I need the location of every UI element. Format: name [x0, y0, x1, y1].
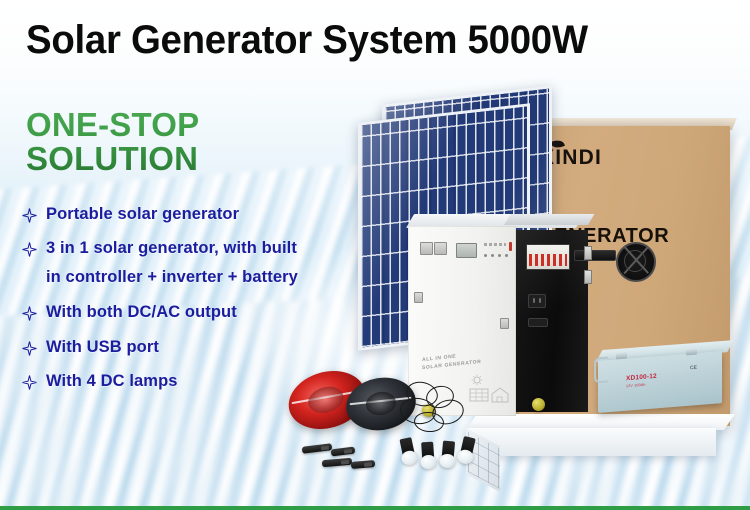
generator-power-led — [509, 242, 512, 251]
page-title: Solar Generator System 5000W — [26, 18, 704, 63]
generator-label-strip — [484, 243, 506, 246]
outlet-pin-left — [533, 298, 535, 303]
generator-hinge-bottom — [584, 270, 592, 284]
feature-item-5: With 4 DC lamps — [22, 372, 372, 391]
dc-lamp-3 — [439, 440, 457, 467]
generator-fan-grille — [616, 242, 656, 282]
dc-lamp-2 — [419, 441, 437, 468]
generator-led-4 — [505, 254, 508, 257]
generator-side-panel — [516, 230, 588, 412]
feature-list: Portable solar generator 3 in 1 solar ge… — [22, 205, 372, 407]
generator-switch-2 — [434, 242, 447, 255]
subtitle-heading: ONE-STOP SOLUTION — [26, 108, 199, 176]
dc-lamp-4 — [456, 436, 477, 465]
feature-item-2-continuation-label: in controller + inverter + battery — [46, 268, 298, 287]
feature-item-4-label: With USB port — [46, 338, 159, 357]
feature-item-2-continuation: in controller + inverter + battery — [46, 268, 372, 287]
outlet-pin-right — [539, 298, 541, 303]
battery-model-label: XD100-12 12V 100Ah — [626, 373, 657, 389]
diamond-star-bullet-icon — [22, 341, 37, 356]
feature-item-5-label: With 4 DC lamps — [46, 372, 178, 391]
battery-handle — [594, 356, 608, 383]
generator-switch-1 — [420, 242, 433, 255]
generator-top-surface-rear — [504, 214, 594, 225]
generator-led-1 — [484, 254, 487, 257]
generator-meter-bars — [529, 254, 567, 266]
generator-port-cover — [500, 318, 509, 329]
feature-item-1-label: Portable solar generator — [46, 205, 239, 224]
feature-item-4: With USB port — [22, 338, 372, 357]
feature-item-3-label: With both DC/AC output — [46, 303, 237, 322]
pallet-front-face — [466, 428, 716, 456]
generator-voltage-meter — [526, 244, 570, 270]
generator-side-switch — [414, 292, 423, 303]
subtitle-line-1: ONE-STOP — [26, 106, 199, 143]
generator-wheel-right — [532, 398, 545, 411]
generator-display — [456, 243, 477, 258]
dc-lamp-1 — [397, 437, 418, 466]
generator-ac-outlet — [528, 294, 546, 308]
product-poster: XINDI GENERATOR ALL IN ONE SOLAR — [0, 0, 750, 510]
battery-ce-mark: CE — [690, 365, 697, 372]
diamond-star-bullet-icon — [22, 208, 37, 223]
bottom-accent-bar — [0, 506, 750, 510]
dc-lamp-3-bulb — [439, 453, 456, 468]
generator-hinge-top — [584, 246, 592, 260]
battery-body — [598, 351, 722, 413]
storage-battery: XD100-12 12V 100Ah CE — [590, 348, 726, 410]
generator-usb-port — [528, 318, 548, 327]
generator-fan-inner-ring — [624, 250, 646, 272]
dc-lamp-2-bulb — [420, 454, 437, 469]
feature-item-2-label: 3 in 1 solar generator, with built — [46, 239, 297, 258]
feature-item-2: 3 in 1 solar generator, with built — [22, 239, 372, 258]
dc-lamp-bundle — [392, 382, 502, 478]
battery-terminal-negative — [616, 352, 627, 360]
diamond-star-bullet-icon — [22, 375, 37, 390]
generator-vent-slot — [574, 250, 616, 261]
subtitle-line-2: SOLUTION — [26, 142, 199, 176]
feature-item-1: Portable solar generator — [22, 205, 372, 224]
generator-led-3 — [498, 254, 501, 257]
generator-led-2 — [491, 254, 494, 257]
diamond-star-bullet-icon — [22, 306, 37, 321]
diamond-star-bullet-icon — [22, 242, 37, 257]
feature-item-3: With both DC/AC output — [22, 303, 372, 322]
battery-terminal-positive — [686, 348, 697, 356]
generator-brand-logo: ALL IN ONE SOLAR GENERATOR — [422, 351, 481, 372]
battery-model-text: XD100-12 — [626, 373, 657, 382]
